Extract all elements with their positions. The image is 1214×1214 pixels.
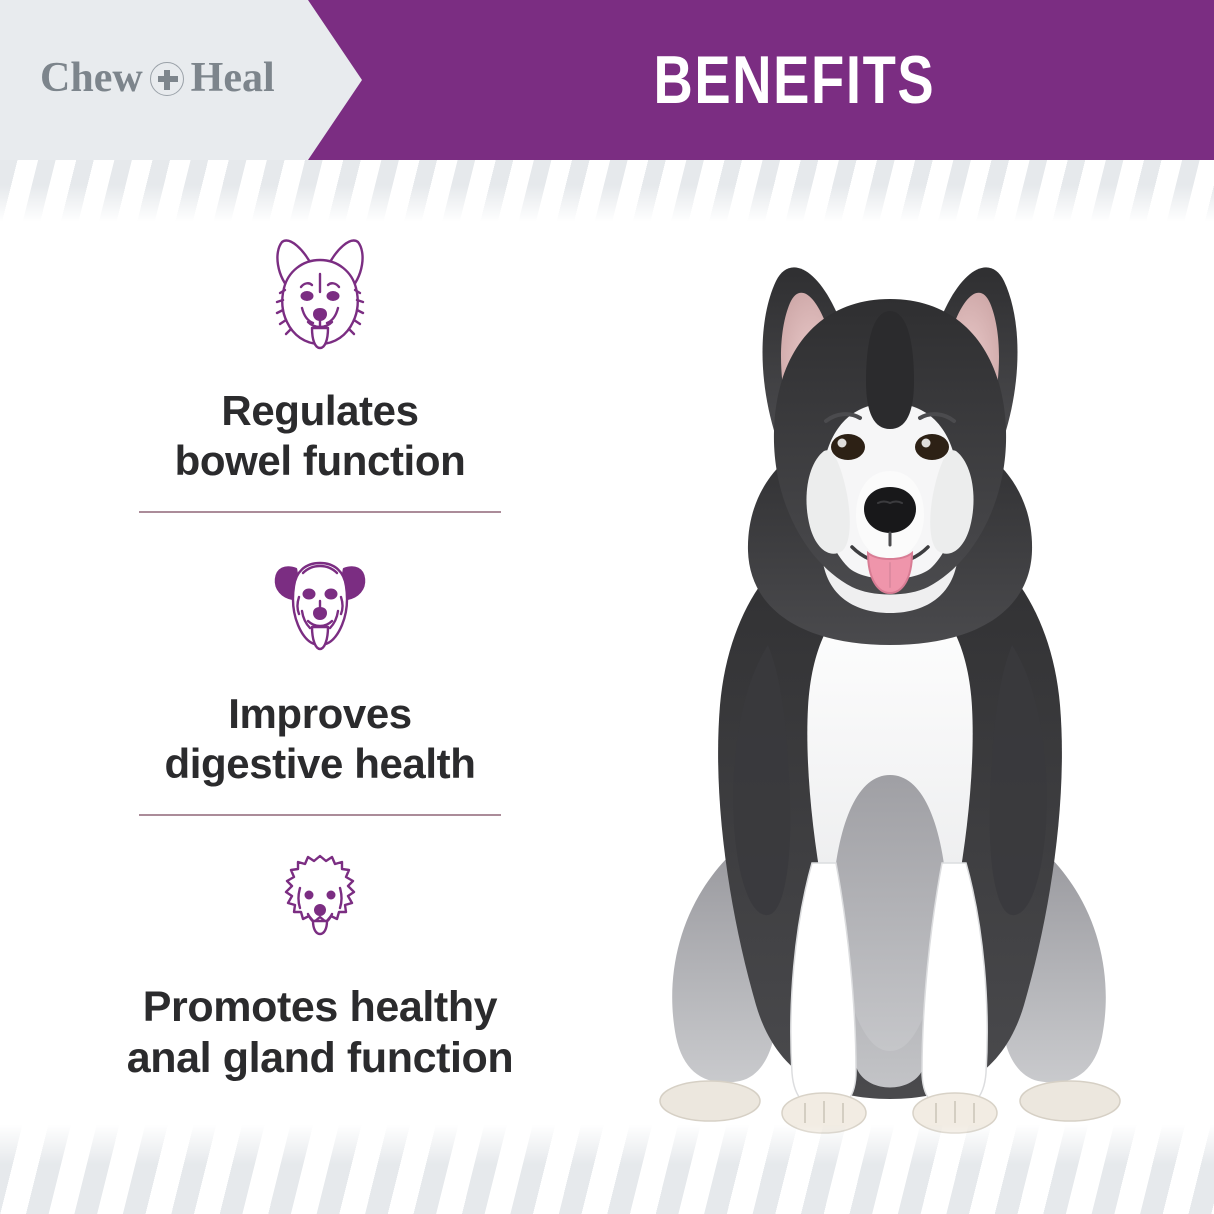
brand-logo-panel: Chew Heal — [0, 0, 362, 160]
benefit-item: Regulates bowel function — [60, 230, 580, 485]
benefit-label: Promotes healthy anal gland function — [127, 982, 514, 1083]
husky-dog-photo — [580, 215, 1200, 1145]
benefit-item: Promotes healthy anal gland function — [60, 842, 580, 1083]
brand-name-heal: Heal — [191, 57, 275, 99]
plus-in-circle-icon — [150, 62, 184, 96]
benefit-item: Improves digestive health — [60, 539, 580, 788]
main-content: Regulates bowel function — [0, 160, 1214, 1214]
corgi-dog-face-icon — [252, 230, 388, 366]
brand-name-chew: Chew — [40, 57, 143, 99]
benefit-label: Regulates bowel function — [175, 386, 466, 485]
benefit-label: Improves digestive health — [164, 689, 475, 788]
benefits-list: Regulates bowel function — [60, 230, 580, 1084]
pomeranian-dog-face-icon — [260, 842, 380, 962]
terrier-dog-face-icon — [255, 539, 385, 669]
page-title: BENEFITS — [447, 0, 1129, 160]
benefit-divider — [139, 814, 501, 816]
benefit-divider — [139, 511, 501, 513]
page-header: Chew Heal BENEFITS — [0, 0, 1214, 160]
brand-logo: Chew Heal — [40, 57, 275, 99]
